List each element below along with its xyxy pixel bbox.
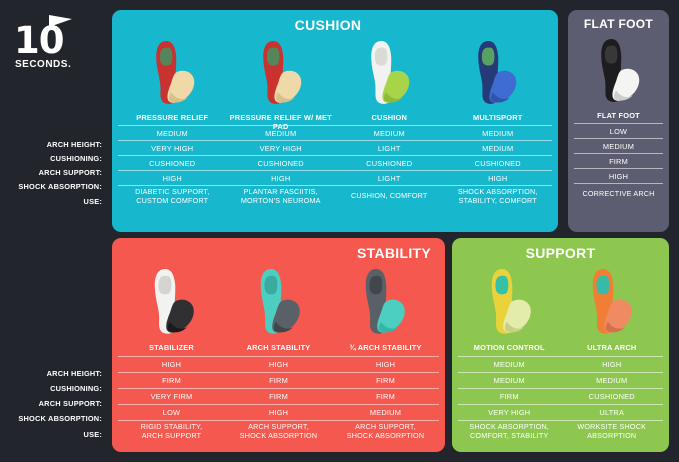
table-row: HIGHHIGHLIGHTHIGH xyxy=(118,171,552,185)
table-row: VERY FIRMFIRMFIRM xyxy=(118,389,439,404)
table-row: HIGHHIGHHIGH xyxy=(118,357,439,372)
table-row: FIRM xyxy=(574,154,663,168)
table-row: MEDIUM xyxy=(574,139,663,153)
spec-value: LIGHT xyxy=(335,171,444,185)
column-header[interactable]: CUSHION xyxy=(335,111,444,125)
row-label-arch-height-2: ARCH HEIGHT: xyxy=(0,366,106,381)
product-image xyxy=(574,31,663,109)
row-label-arch-support-2: ARCH SUPPORT: xyxy=(0,396,106,411)
use-value: ARCH SUPPORT,SHOCK ABSORPTION xyxy=(332,421,439,442)
use-value: CUSHION, COMFORT xyxy=(335,186,444,207)
orange-teal-insole xyxy=(581,265,641,341)
spec-value: LIGHT xyxy=(335,141,444,155)
white-black-insole xyxy=(143,265,203,341)
spec-value: HIGH xyxy=(574,169,663,183)
use-value: SHOCK ABSORPTION,STABILITY, COMFORT xyxy=(444,186,553,207)
logo-wordmark: SECONDS. xyxy=(15,59,71,70)
product-images-flatfoot xyxy=(568,31,669,109)
spec-value: HIGH xyxy=(227,171,336,185)
spec-value: FIRM xyxy=(332,389,439,404)
spec-value: VERY HIGH xyxy=(227,141,336,155)
spec-value: CUSHIONED xyxy=(335,156,444,170)
spec-value: MEDIUM xyxy=(574,139,663,153)
table-row-use: DIABETIC SUPPORT,CUSTOM COMFORTPLANTAR F… xyxy=(118,186,552,207)
product-images-stability xyxy=(112,261,445,341)
spec-table-stability: STABILIZERARCH STABILITY¾ ARCH STABILITY… xyxy=(112,341,445,442)
yellow-teal-insole xyxy=(480,265,540,341)
spec-value: MEDIUM xyxy=(444,141,553,155)
column-header[interactable]: PRESSURE RELIEF xyxy=(118,111,227,125)
spec-value: CUSHIONED xyxy=(227,156,336,170)
spec-value: CUSHIONED xyxy=(118,156,227,170)
use-line: SHOCK ABSORPTION xyxy=(240,432,318,441)
table-row-use: RIGID STABILITY,ARCH SUPPORTARCH SUPPORT… xyxy=(118,421,439,442)
spec-table-cushion: PRESSURE RELIEFPRESSURE RELIEF W/ MET PA… xyxy=(112,111,558,207)
spec-value: MEDIUM xyxy=(332,405,439,420)
table-row-use: SHOCK ABSORPTION,COMFORT, STABILITYWORKS… xyxy=(458,421,663,442)
panel-title-stability: STABILITY xyxy=(112,238,445,261)
spec-value: FIRM xyxy=(225,373,332,388)
product-image xyxy=(335,33,443,111)
use-value: CORRECTIVE ARCH xyxy=(574,184,663,205)
spec-table-flatfoot: FLAT FOOTLOWMEDIUMFIRMHIGHCORRECTIVE ARC… xyxy=(568,109,669,205)
row-labels-bottom: ARCH HEIGHT: CUSHIONING: ARCH SUPPORT: S… xyxy=(0,366,106,447)
column-header[interactable]: MULTISPORT xyxy=(444,111,553,125)
panel-stability[interactable]: STABILITYSTABILIZERARCH STABILITY¾ ARCH … xyxy=(112,238,445,452)
panel-flat-foot[interactable]: FLAT FOOTFLAT FOOTLOWMEDIUMFIRMHIGHCORRE… xyxy=(568,10,669,232)
table-row: FIRMFIRMFIRM xyxy=(118,373,439,388)
use-line: MORTON'S NEUROMA xyxy=(241,197,321,206)
spec-value: VERY FIRM xyxy=(118,389,225,404)
row-label-arch-support: ARCH SUPPORT: xyxy=(0,165,106,179)
use-line: CORRECTIVE ARCH xyxy=(582,190,654,199)
product-images-support xyxy=(452,261,669,341)
row-label-use: USE: xyxy=(0,193,106,214)
spec-value: VERY HIGH xyxy=(458,405,561,420)
product-image xyxy=(561,261,662,341)
panel-cushion[interactable]: CUSHIONPRESSURE RELIEFPRESSURE RELIEF W/… xyxy=(112,10,558,232)
product-image xyxy=(120,261,226,341)
spec-value: HIGH xyxy=(444,171,553,185)
column-header[interactable]: PRESSURE RELIEF W/ MET PAD xyxy=(227,111,336,125)
product-image xyxy=(120,33,228,111)
table-row: MEDIUMMEDIUM xyxy=(458,373,663,388)
row-label-cushioning-2: CUSHIONING: xyxy=(0,381,106,396)
spec-value: MEDIUM xyxy=(458,373,561,388)
table-row: VERY HIGHVERY HIGHLIGHTMEDIUM xyxy=(118,141,552,155)
spec-value: FIRM xyxy=(118,373,225,388)
spec-value: MEDIUM xyxy=(335,126,444,140)
logo-mark: 10 xyxy=(12,14,84,58)
use-value: RIGID STABILITY,ARCH SUPPORT xyxy=(118,421,225,442)
table-row: FIRMCUSHIONED xyxy=(458,389,663,404)
use-line: ABSORPTION xyxy=(587,432,636,441)
column-header[interactable]: STABILIZER xyxy=(118,341,225,356)
product-image xyxy=(228,33,336,111)
use-line: ARCH SUPPORT xyxy=(142,432,201,441)
red-insole-with-tan-footbed xyxy=(254,37,308,111)
row-label-use-2: USE: xyxy=(0,426,106,447)
spec-value: VERY HIGH xyxy=(118,141,227,155)
spec-value: CUSHIONED xyxy=(444,156,553,170)
spec-value: FIRM xyxy=(458,389,561,404)
table-row: HIGH xyxy=(574,169,663,183)
product-images-cushion xyxy=(112,33,558,111)
spec-value: MEDIUM xyxy=(227,126,336,140)
panel-support[interactable]: SUPPORTMOTION CONTROLULTRA ARCHMEDIUMHIG… xyxy=(452,238,669,452)
table-row: MEDIUMHIGH xyxy=(458,357,663,372)
spec-value: FIRM xyxy=(574,154,663,168)
use-value: SHOCK ABSORPTION,COMFORT, STABILITY xyxy=(458,421,561,442)
table-row: MEDIUMMEDIUMMEDIUMMEDIUM xyxy=(118,126,552,140)
product-image xyxy=(460,261,561,341)
spec-value: FIRM xyxy=(225,389,332,404)
white-insole-with-green-footbed xyxy=(362,37,416,111)
row-label-arch-height: ARCH HEIGHT: xyxy=(0,137,106,151)
spec-value: FIRM xyxy=(332,373,439,388)
use-line: STABILITY, COMFORT xyxy=(459,197,537,206)
spec-value: MEDIUM xyxy=(444,126,553,140)
product-image xyxy=(331,261,437,341)
use-value: PLANTAR FASCIITIS,MORTON'S NEUROMA xyxy=(227,186,336,207)
use-line: CUSHION, COMFORT xyxy=(351,192,428,201)
column-header[interactable]: ARCH STABILITY xyxy=(225,341,332,356)
spec-value: MEDIUM xyxy=(561,373,664,388)
spec-value: HIGH xyxy=(225,405,332,420)
spec-value: HIGH xyxy=(118,357,225,372)
spec-table-header: FLAT FOOT xyxy=(574,109,663,123)
use-line: COMFORT, STABILITY xyxy=(470,432,548,441)
teal-three-quarter-insole xyxy=(354,265,414,341)
spec-table-header: MOTION CONTROLULTRA ARCH xyxy=(458,341,663,356)
spec-value: LOW xyxy=(118,405,225,420)
spec-table-header: STABILIZERARCH STABILITY¾ ARCH STABILITY xyxy=(118,341,439,356)
spec-value: HIGH xyxy=(225,357,332,372)
row-label-shock-absorption: SHOCK ABSORPTION: xyxy=(0,179,106,193)
panel-title-support: SUPPORT xyxy=(452,238,669,261)
spec-value: MEDIUM xyxy=(118,126,227,140)
flag-pennant-icon xyxy=(48,14,74,30)
row-label-shock-absorption-2: SHOCK ABSORPTION: xyxy=(0,411,106,426)
table-row-use: CORRECTIVE ARCH xyxy=(574,184,663,205)
table-row: CUSHIONEDCUSHIONEDCUSHIONEDCUSHIONED xyxy=(118,156,552,170)
insole-comparison-chart: 10 SECONDS. ARCH HEIGHT: CUSHIONING: ARC… xyxy=(0,0,679,462)
product-image xyxy=(226,261,332,341)
brand-logo: 10 SECONDS. xyxy=(12,14,92,76)
navy-blue-insole xyxy=(469,37,523,111)
column-header[interactable]: FLAT FOOT xyxy=(574,109,663,123)
row-labels-top: ARCH HEIGHT: CUSHIONING: ARCH SUPPORT: S… xyxy=(0,137,106,214)
use-line: CUSTOM COMFORT xyxy=(136,197,208,206)
spec-value: MEDIUM xyxy=(458,357,561,372)
panel-title-flatfoot: FLAT FOOT xyxy=(568,10,669,31)
column-header[interactable]: ULTRA ARCH xyxy=(561,341,664,356)
table-row: VERY HIGHULTRA xyxy=(458,405,663,420)
table-row: LOWHIGHMEDIUM xyxy=(118,405,439,420)
red-insole-with-tan-footbed xyxy=(147,37,201,111)
use-value: ARCH SUPPORT,SHOCK ABSORPTION xyxy=(225,421,332,442)
column-header[interactable]: ¾ ARCH STABILITY xyxy=(332,341,439,356)
table-row: LOW xyxy=(574,124,663,138)
teal-grey-insole xyxy=(249,265,309,341)
spec-table-support: MOTION CONTROLULTRA ARCHMEDIUMHIGHMEDIUM… xyxy=(452,341,669,442)
spec-value: CUSHIONED xyxy=(561,389,664,404)
product-image xyxy=(443,33,551,111)
use-value: DIABETIC SUPPORT,CUSTOM COMFORT xyxy=(118,186,227,207)
black-and-white-insole xyxy=(593,35,645,109)
spec-value: LOW xyxy=(574,124,663,138)
use-line: SHOCK ABSORPTION xyxy=(347,432,425,441)
spec-table-header: PRESSURE RELIEFPRESSURE RELIEF W/ MET PA… xyxy=(118,111,552,125)
spec-value: HIGH xyxy=(118,171,227,185)
row-label-cushioning: CUSHIONING: xyxy=(0,151,106,165)
panel-title-cushion: CUSHION xyxy=(112,10,558,33)
column-header[interactable]: MOTION CONTROL xyxy=(458,341,561,356)
spec-value: ULTRA xyxy=(561,405,664,420)
spec-value: HIGH xyxy=(332,357,439,372)
use-value: WORKSITE SHOCKABSORPTION xyxy=(561,421,664,442)
spec-value: HIGH xyxy=(561,357,664,372)
